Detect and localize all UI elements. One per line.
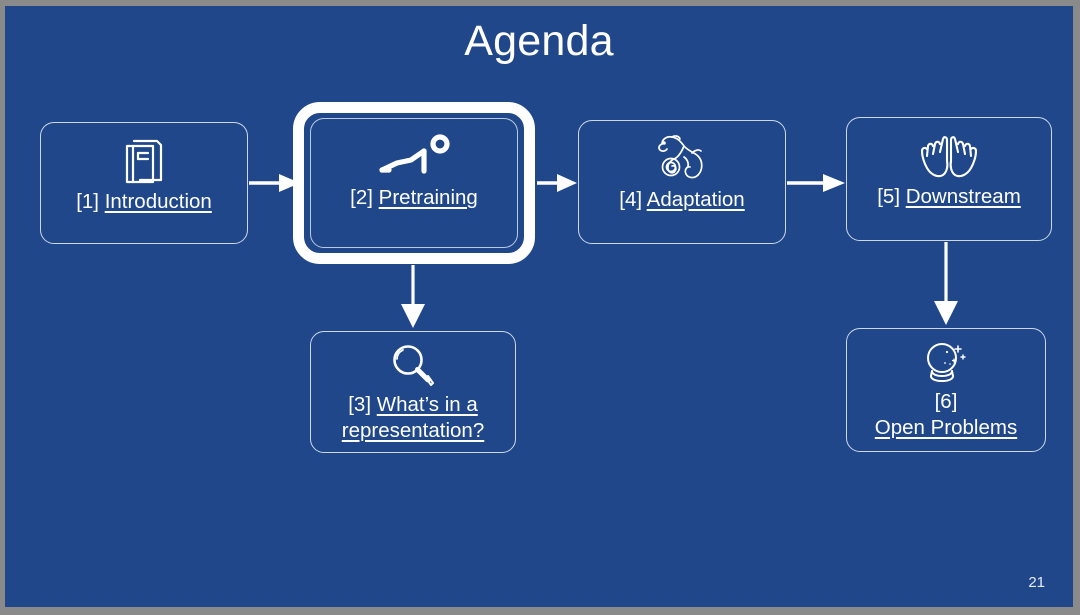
pushup-person-icon xyxy=(375,129,453,185)
node-index: [5] xyxy=(877,185,900,208)
slide-canvas: Agenda xyxy=(5,6,1073,607)
agenda-node-label: [4] Adaptation xyxy=(613,187,750,212)
agenda-node-introduction[interactable]: [1] Introduction xyxy=(40,122,248,244)
open-hands-icon xyxy=(917,128,981,184)
agenda-node-label: [3] What’s in a representation? xyxy=(336,392,490,443)
page-title: Agenda xyxy=(5,18,1073,65)
node-index: [4] xyxy=(619,188,642,211)
agenda-node-label: [5] Downstream xyxy=(871,184,1027,209)
magnifying-glass-icon xyxy=(390,340,436,392)
agenda-node-what-is-in-a-representation[interactable]: [3] What’s in a representation? xyxy=(310,331,516,453)
node-index: [6] xyxy=(935,390,958,413)
node-title: Downstream xyxy=(906,185,1021,208)
arrow-5-to-6 xyxy=(934,242,958,325)
page-number: 21 xyxy=(1028,574,1045,591)
arrow-4-to-5 xyxy=(787,174,845,192)
node-index: [2] xyxy=(350,186,373,209)
agenda-node-open-problems[interactable]: [6] Open Problems xyxy=(846,328,1046,452)
crystal-ball-icon xyxy=(920,337,972,389)
arrow-2-to-3 xyxy=(401,265,425,328)
books-icon xyxy=(122,133,166,189)
agenda-node-pretraining[interactable]: [2] Pretraining xyxy=(310,118,518,248)
agenda-node-downstream[interactable]: [5] Downstream xyxy=(846,117,1052,241)
node-title-line-2: representation? xyxy=(342,419,484,442)
chameleon-icon xyxy=(654,131,710,187)
node-title: Pretraining xyxy=(379,186,478,209)
node-index: [3] xyxy=(348,393,371,416)
node-title: Introduction xyxy=(105,190,212,213)
agenda-node-adaptation[interactable]: [4] Adaptation xyxy=(578,120,786,244)
node-title: Open Problems xyxy=(875,416,1017,439)
agenda-node-label: [1] Introduction xyxy=(70,189,218,214)
agenda-node-label: [6] Open Problems xyxy=(869,389,1023,440)
node-title: Adaptation xyxy=(647,188,745,211)
arrow-2-to-4 xyxy=(537,174,577,192)
connector-layer xyxy=(5,6,1073,607)
node-index: [1] xyxy=(76,190,99,213)
node-title-line-1: What’s in a xyxy=(377,393,478,416)
agenda-node-label: [2] Pretraining xyxy=(344,185,484,210)
